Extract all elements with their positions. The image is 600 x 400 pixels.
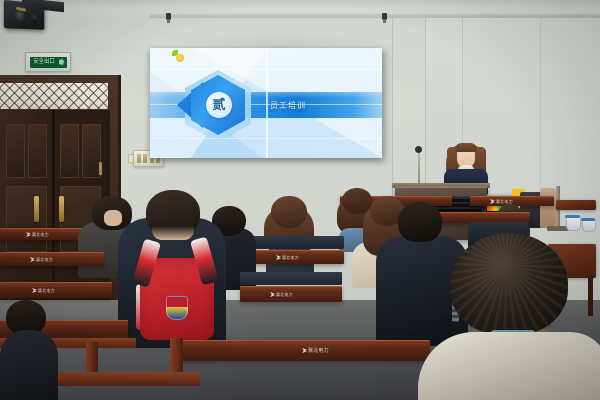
video-wall-seam <box>266 48 268 158</box>
microphone-icon <box>415 146 422 153</box>
wall-seam <box>392 18 393 218</box>
student-left-back-face <box>104 210 122 226</box>
paper-cup-lid <box>565 215 580 218</box>
door-handle[interactable] <box>59 196 64 222</box>
door-panel <box>6 124 25 178</box>
bench-row: 冀北电力 <box>0 252 104 266</box>
student-bottom-left <box>0 330 58 400</box>
numeral-badge-label: 贰 <box>212 99 225 112</box>
chair-back <box>556 200 596 210</box>
slide-heading: 员工培训 <box>270 98 350 112</box>
door-panel <box>28 124 47 178</box>
door-handle[interactable] <box>34 196 39 222</box>
bench-logo: 冀北电力 <box>308 349 329 353</box>
ceiling-mount-icon <box>382 13 387 20</box>
foreground-person <box>418 332 600 400</box>
bench-row: 冀北电力 <box>240 286 342 302</box>
foreground-person-hair <box>450 233 568 335</box>
switch-key[interactable] <box>137 154 141 163</box>
student-long-hair-a-head <box>271 196 307 228</box>
door-strike-plate <box>99 162 102 175</box>
paper-cup <box>566 216 581 231</box>
lecture-hall-photo: 安全出口 贰 员工培训 <box>0 0 600 400</box>
bench-logo: 冀北电力 <box>282 256 299 260</box>
ceiling-speaker <box>4 0 44 30</box>
handbag <box>540 188 556 228</box>
microphone-stand <box>418 150 420 186</box>
bench-row: 冀北电力 <box>0 282 112 298</box>
student-with-backpack-neck <box>152 226 194 240</box>
door-panel <box>6 186 47 252</box>
chair-leg <box>588 276 593 316</box>
ceiling-mount-icon <box>166 13 171 20</box>
flower-icon <box>176 54 184 62</box>
presentation-screen[interactable]: 贰 员工培训 <box>150 48 382 158</box>
bench-logo: 冀北电力 <box>36 258 53 262</box>
student-navy-jacket-head <box>398 202 442 242</box>
bench-seat <box>240 272 342 285</box>
bench-seat <box>252 236 344 249</box>
slide-sticker <box>172 50 186 62</box>
bench-row: 冀北电力 <box>252 250 344 264</box>
door-panel <box>60 124 79 178</box>
bench-logo: 冀北电力 <box>32 233 49 237</box>
exit-sign-label: 安全出口 <box>33 59 55 65</box>
bench-row: 冀北电力 <box>180 340 430 361</box>
bench-logo: 冀北电力 <box>38 289 55 293</box>
switch-key[interactable] <box>143 154 147 163</box>
paper-cup-lid <box>581 218 595 221</box>
foreground-person-head <box>450 233 568 335</box>
door-transom-window <box>0 83 108 109</box>
presenter-bangs <box>455 143 477 152</box>
numeral-badge: 贰 <box>206 92 232 118</box>
backpack-crest-icon <box>166 296 188 320</box>
exit-sign: 安全出口 <box>25 52 71 72</box>
door-center-seam <box>52 110 55 305</box>
speaker-cone-icon <box>14 10 27 25</box>
right-arrow-icon <box>59 58 65 66</box>
lattice-grille-icon <box>0 83 108 109</box>
exit-sign-face: 安全出口 <box>30 57 67 68</box>
speaker-port-icon <box>32 12 38 24</box>
bench-logo: 冀北电力 <box>276 293 293 297</box>
